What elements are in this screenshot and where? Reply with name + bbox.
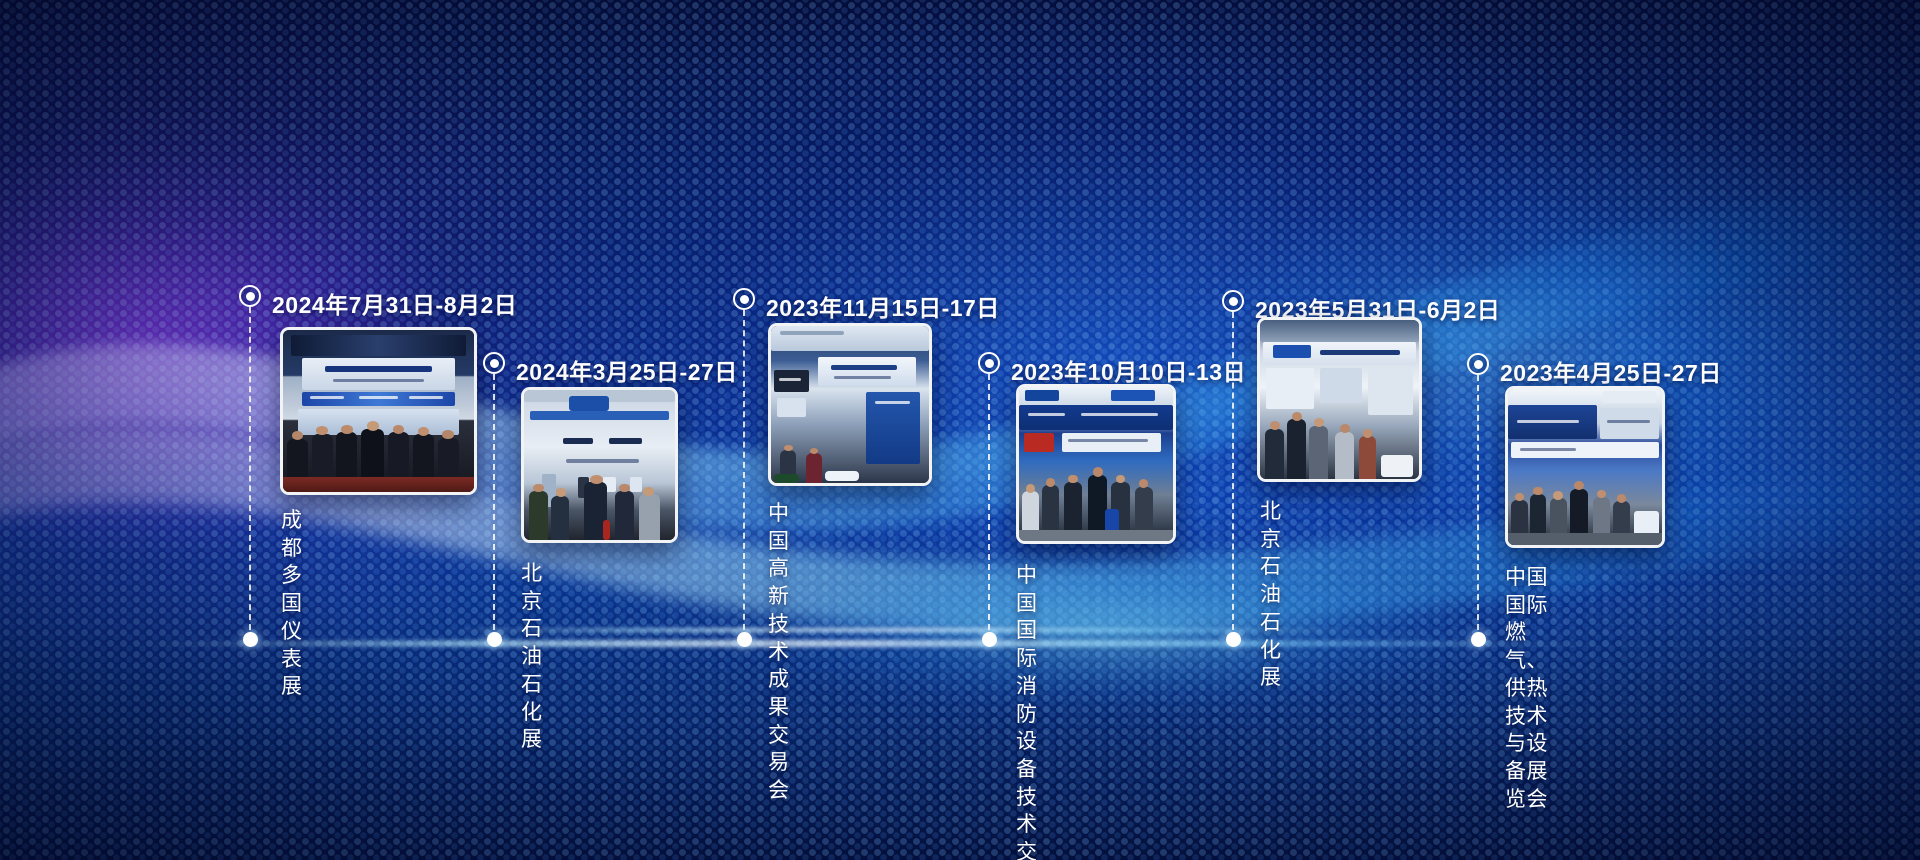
timeline-marker-icon-4[interactable] [978,352,1000,374]
timeline-marker-icon-1[interactable] [239,285,261,307]
timeline-connector-1 [249,307,251,640]
timeline-connector-4 [988,374,990,640]
timeline-date-3: 2023年11月15日-17日 [766,289,1000,323]
timeline-date-1: 2024年7月31日-8月2日 [272,286,517,320]
timeline-enddot-5 [1226,632,1241,647]
timeline-caption-3: 中国高新技术 成果交易会 [768,500,790,805]
timeline-enddot-3 [737,632,752,647]
timeline-enddot-2 [487,632,502,647]
timeline-enddot-4 [982,632,997,647]
timeline-marker-icon-3[interactable] [733,288,755,310]
timeline-track: 2024年7月31日-8月2日 [0,0,1920,860]
timeline-date-2: 2024年3月25日-27日 [516,353,738,387]
timeline-banner: 2024年7月31日-8月2日 [0,0,1920,860]
timeline-enddot-1 [243,632,258,647]
timeline-date-6: 2023年4月25日-27日 [1500,354,1722,388]
timeline-marker-icon-2[interactable] [483,352,505,374]
timeline-connector-3 [743,310,745,640]
timeline-photo-1[interactable] [280,327,477,495]
timeline-marker-icon-6[interactable] [1467,353,1489,375]
timeline-caption-6: 中国国际燃气、供热 技术与设备展览会 [1505,564,1548,813]
timeline-photo-6[interactable] [1505,386,1665,548]
timeline-photo-5[interactable] [1257,317,1422,482]
timeline-caption-4: 中国国际消防设备 技术交流展览会 [1016,562,1038,860]
timeline-caption-2: 北京石油石化展 [521,560,543,754]
timeline-connector-6 [1477,375,1479,640]
timeline-caption-1: 成都多国仪表展 [281,507,303,701]
timeline-connector-2 [493,374,495,640]
timeline-enddot-6 [1471,632,1486,647]
timeline-caption-5: 北京石油石化展 [1260,498,1282,692]
timeline-photo-4[interactable] [1016,384,1176,544]
timeline-photo-3[interactable] [768,323,932,486]
timeline-photo-2[interactable] [521,387,678,543]
timeline-date-4: 2023年10月10日-13日 [1011,353,1246,387]
timeline-marker-icon-5[interactable] [1222,290,1244,312]
timeline-connector-5 [1232,312,1234,640]
